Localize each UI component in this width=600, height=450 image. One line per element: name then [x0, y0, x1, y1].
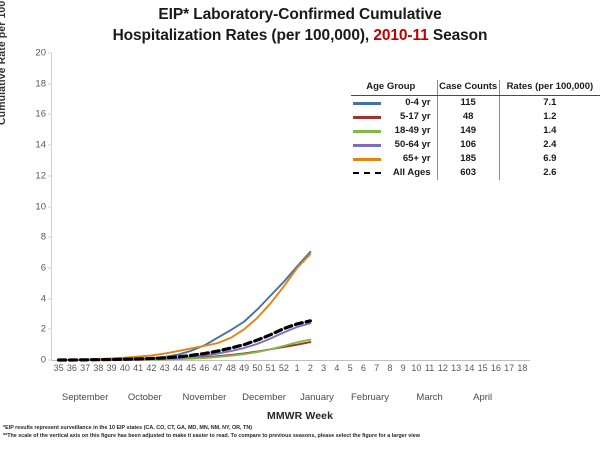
series-line-65-yr: [59, 254, 311, 360]
y-axis-tick-label: 20: [35, 48, 46, 59]
legend-age-group-label: 65+ yr: [403, 153, 431, 164]
legend-case-count-cell: 48: [437, 110, 499, 124]
x-axis-tick-label: 2: [308, 363, 313, 373]
x-axis-tick-label: 41: [133, 363, 143, 373]
x-axis-tick-label: 7: [374, 363, 379, 373]
legend-rate-cell: 6.9: [499, 152, 600, 166]
footnote-scale: **The scale of the vertical axis on this…: [3, 432, 597, 440]
x-axis-tick-label: 49: [239, 363, 249, 373]
x-axis-tick-label: 10: [411, 363, 421, 373]
legend-row[interactable]: 50-64 yr1062.4: [351, 138, 600, 152]
x-axis-tick-label: 40: [120, 363, 130, 373]
legend-header-age-group: Age Group: [351, 80, 437, 96]
legend-row[interactable]: 65+ yr1856.9: [351, 152, 600, 166]
y-axis-tick-label: 12: [35, 170, 46, 181]
legend-rate-cell: 2.4: [499, 138, 600, 152]
legend-color-swatch-icon: [353, 102, 381, 105]
legend-age-group-cell: 5-17 yr: [351, 110, 437, 124]
footnote-eip: *EIP results represent surveillance in t…: [3, 424, 597, 432]
x-axis-tick-label: 8: [387, 363, 392, 373]
legend-color-swatch-icon: [353, 172, 381, 174]
month-label: September: [62, 392, 108, 403]
x-axis-tick-label: 50: [252, 363, 262, 373]
x-axis-tick-label: 16: [491, 363, 501, 373]
legend-age-group-cell: 65+ yr: [351, 152, 437, 166]
x-axis-tick-label: 36: [67, 363, 77, 373]
y-axis-tick-label: 4: [41, 293, 46, 304]
footnotes: *EIP results represent surveillance in t…: [3, 424, 597, 440]
x-axis-tick-label: 48: [226, 363, 236, 373]
legend-age-group-label: 5-17 yr: [400, 111, 431, 122]
x-axis-tick-label: 6: [361, 363, 366, 373]
x-axis-tick-label: 4: [334, 363, 339, 373]
series-line-50-64-yr: [59, 323, 311, 360]
legend-case-count-cell: 149: [437, 124, 499, 138]
legend-body: 0-4 yr1157.15-17 yr481.218-49 yr1491.450…: [351, 96, 600, 181]
x-axis-tick-label: 1: [295, 363, 300, 373]
legend-row[interactable]: 5-17 yr481.2: [351, 110, 600, 124]
y-axis-tick-label: 10: [35, 201, 46, 212]
legend-age-group-cell: All Ages: [351, 166, 437, 180]
y-axis-tick-label: 2: [41, 324, 46, 335]
chart-title-line-1: EIP* Laboratory-Confirmed Cumulative: [0, 4, 600, 25]
legend-header-rates: Rates (per 100,000): [499, 80, 600, 96]
x-axis-tick-label: 46: [199, 363, 209, 373]
x-axis-tick-label: 18: [517, 363, 527, 373]
y-axis-tick-label: 8: [41, 232, 46, 243]
legend-rate-cell: 1.2: [499, 110, 600, 124]
legend-row[interactable]: 18-49 yr1491.4: [351, 124, 600, 138]
y-axis-tick-label: 16: [35, 109, 46, 120]
x-axis-tick-label: 9: [401, 363, 406, 373]
x-axis-tick-label: 35: [54, 363, 64, 373]
x-axis-tick-label: 52: [279, 363, 289, 373]
legend-age-group-label: 0-4 yr: [405, 97, 430, 108]
chart-title-prefix: Hospitalization Rates (per 100,000),: [113, 27, 374, 44]
series-line-all-ages: [59, 321, 311, 360]
legend-row[interactable]: 0-4 yr1157.1: [351, 96, 600, 111]
chart-title-season-years: 2010-11: [373, 27, 428, 44]
legend-color-swatch-icon: [353, 116, 381, 119]
x-axis-tick-label: 17: [504, 363, 514, 373]
legend-rate-cell: 7.1: [499, 96, 600, 111]
chart-title: EIP* Laboratory-Confirmed Cumulative Hos…: [0, 4, 600, 46]
legend-color-swatch-icon: [353, 144, 381, 147]
legend-case-count-cell: 603: [437, 166, 499, 180]
month-label: April: [473, 392, 492, 403]
x-axis-tick-label: 5: [348, 363, 353, 373]
month-label: November: [182, 392, 226, 403]
x-axis-tick-label: 42: [146, 363, 156, 373]
y-axis-tick-label: 18: [35, 78, 46, 89]
legend-age-group-cell: 0-4 yr: [351, 96, 437, 111]
x-axis-tick-label: 13: [451, 363, 461, 373]
x-axis-title: MMWR Week: [0, 410, 600, 422]
month-label: October: [128, 392, 162, 403]
legend-color-swatch-icon: [353, 158, 381, 161]
x-axis-tick-label: 37: [80, 363, 90, 373]
legend-color-swatch-icon: [353, 130, 381, 133]
legend-header-row: Age Group Case Counts Rates (per 100,000…: [351, 80, 600, 96]
legend-age-group-cell: 18-49 yr: [351, 124, 437, 138]
x-axis-tick-label: 14: [464, 363, 474, 373]
legend-age-group-label: 18-49 yr: [395, 125, 431, 136]
x-axis-tick-label: 45: [186, 363, 196, 373]
legend-age-group-label: 50-64 yr: [395, 139, 431, 150]
x-axis-tick-label: 43: [160, 363, 170, 373]
x-axis-tick-label: 47: [213, 363, 223, 373]
legend-row[interactable]: All Ages6032.6: [351, 166, 600, 180]
legend-case-count-cell: 185: [437, 152, 499, 166]
y-axis-tick-label: 6: [41, 262, 46, 273]
legend-header-case-counts: Case Counts: [437, 80, 499, 96]
x-axis-tick-label: 39: [107, 363, 117, 373]
legend-case-count-cell: 115: [437, 96, 499, 111]
legend-table: Age Group Case Counts Rates (per 100,000…: [351, 80, 600, 180]
x-axis-tick-label: 44: [173, 363, 183, 373]
month-label: February: [351, 392, 389, 403]
legend-rate-cell: 1.4: [499, 124, 600, 138]
y-axis-title: Cumulative Rate per 100,000**: [0, 0, 8, 125]
x-axis-tick-label: 12: [438, 363, 448, 373]
month-label: January: [300, 392, 334, 403]
y-axis-tick-label: 0: [41, 355, 46, 366]
x-axis-tick-label: 38: [93, 363, 103, 373]
x-axis-tick-label: 3: [321, 363, 326, 373]
month-label: December: [242, 392, 286, 403]
legend-age-group-cell: 50-64 yr: [351, 138, 437, 152]
y-axis-tick-label: 14: [35, 140, 46, 151]
x-axis-tick-label: 15: [478, 363, 488, 373]
month-label: March: [416, 392, 442, 403]
legend-case-count-cell: 106: [437, 138, 499, 152]
chart-title-suffix: Season: [429, 27, 488, 44]
chart-title-line-2: Hospitalization Rates (per 100,000), 201…: [0, 25, 600, 46]
series-line-0-4-yr: [59, 252, 311, 360]
legend-age-group-label: All Ages: [393, 167, 431, 178]
x-axis-tick-label: 51: [266, 363, 276, 373]
legend-rate-cell: 2.6: [499, 166, 600, 180]
x-axis-tick-label: 11: [425, 363, 434, 373]
